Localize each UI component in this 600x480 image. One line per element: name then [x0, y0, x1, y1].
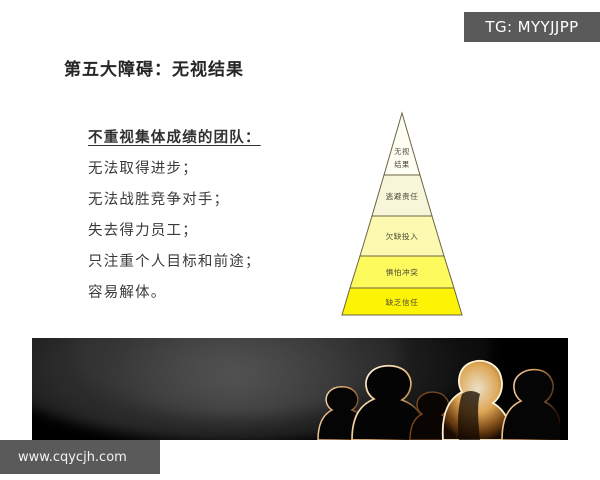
silhouette-photo-band	[32, 338, 568, 440]
bullet-list-heading: 不重视集体成绩的团队：	[88, 123, 298, 154]
pyramid-level-2-label: 惧怕冲突	[386, 267, 419, 277]
dysfunctions-pyramid-diagram: 无视 结果 逃避责任 欠缺投入 惧怕冲突 缺乏信任	[284, 108, 524, 320]
crowd-silhouette-group	[310, 344, 560, 440]
tg-handle-badge: TG: MYYJJPP	[464, 12, 600, 42]
pyramid-level-3-label: 欠缺投入	[386, 231, 419, 241]
bullet-list: 不重视集体成绩的团队： 无法取得进步； 无法战胜竞争对手； 失去得力员工； 只注…	[88, 123, 298, 309]
list-item: 只注重个人目标和前途；	[88, 247, 298, 278]
pyramid-level-5-label-line1: 无视	[394, 147, 410, 156]
silhouette-figure-5	[502, 370, 560, 440]
list-item: 无法取得进步；	[88, 154, 298, 185]
pyramid-level-5-label-line2: 结果	[394, 160, 410, 169]
list-item: 容易解体。	[88, 278, 298, 309]
page-title: 第五大障碍：无视结果	[64, 55, 244, 80]
pyramid-level-1-label: 缺乏信任	[386, 297, 419, 307]
silhouette-figure-4	[443, 361, 512, 440]
list-item: 失去得力员工；	[88, 216, 298, 247]
list-item: 无法战胜竞争对手；	[88, 185, 298, 216]
pyramid-level-4-label: 逃避责任	[386, 191, 419, 201]
site-watermark: www.cqycjh.com	[0, 440, 160, 474]
slide-canvas: TG: MYYJJPP 第五大障碍：无视结果 不重视集体成绩的团队： 无法取得进…	[0, 0, 600, 480]
